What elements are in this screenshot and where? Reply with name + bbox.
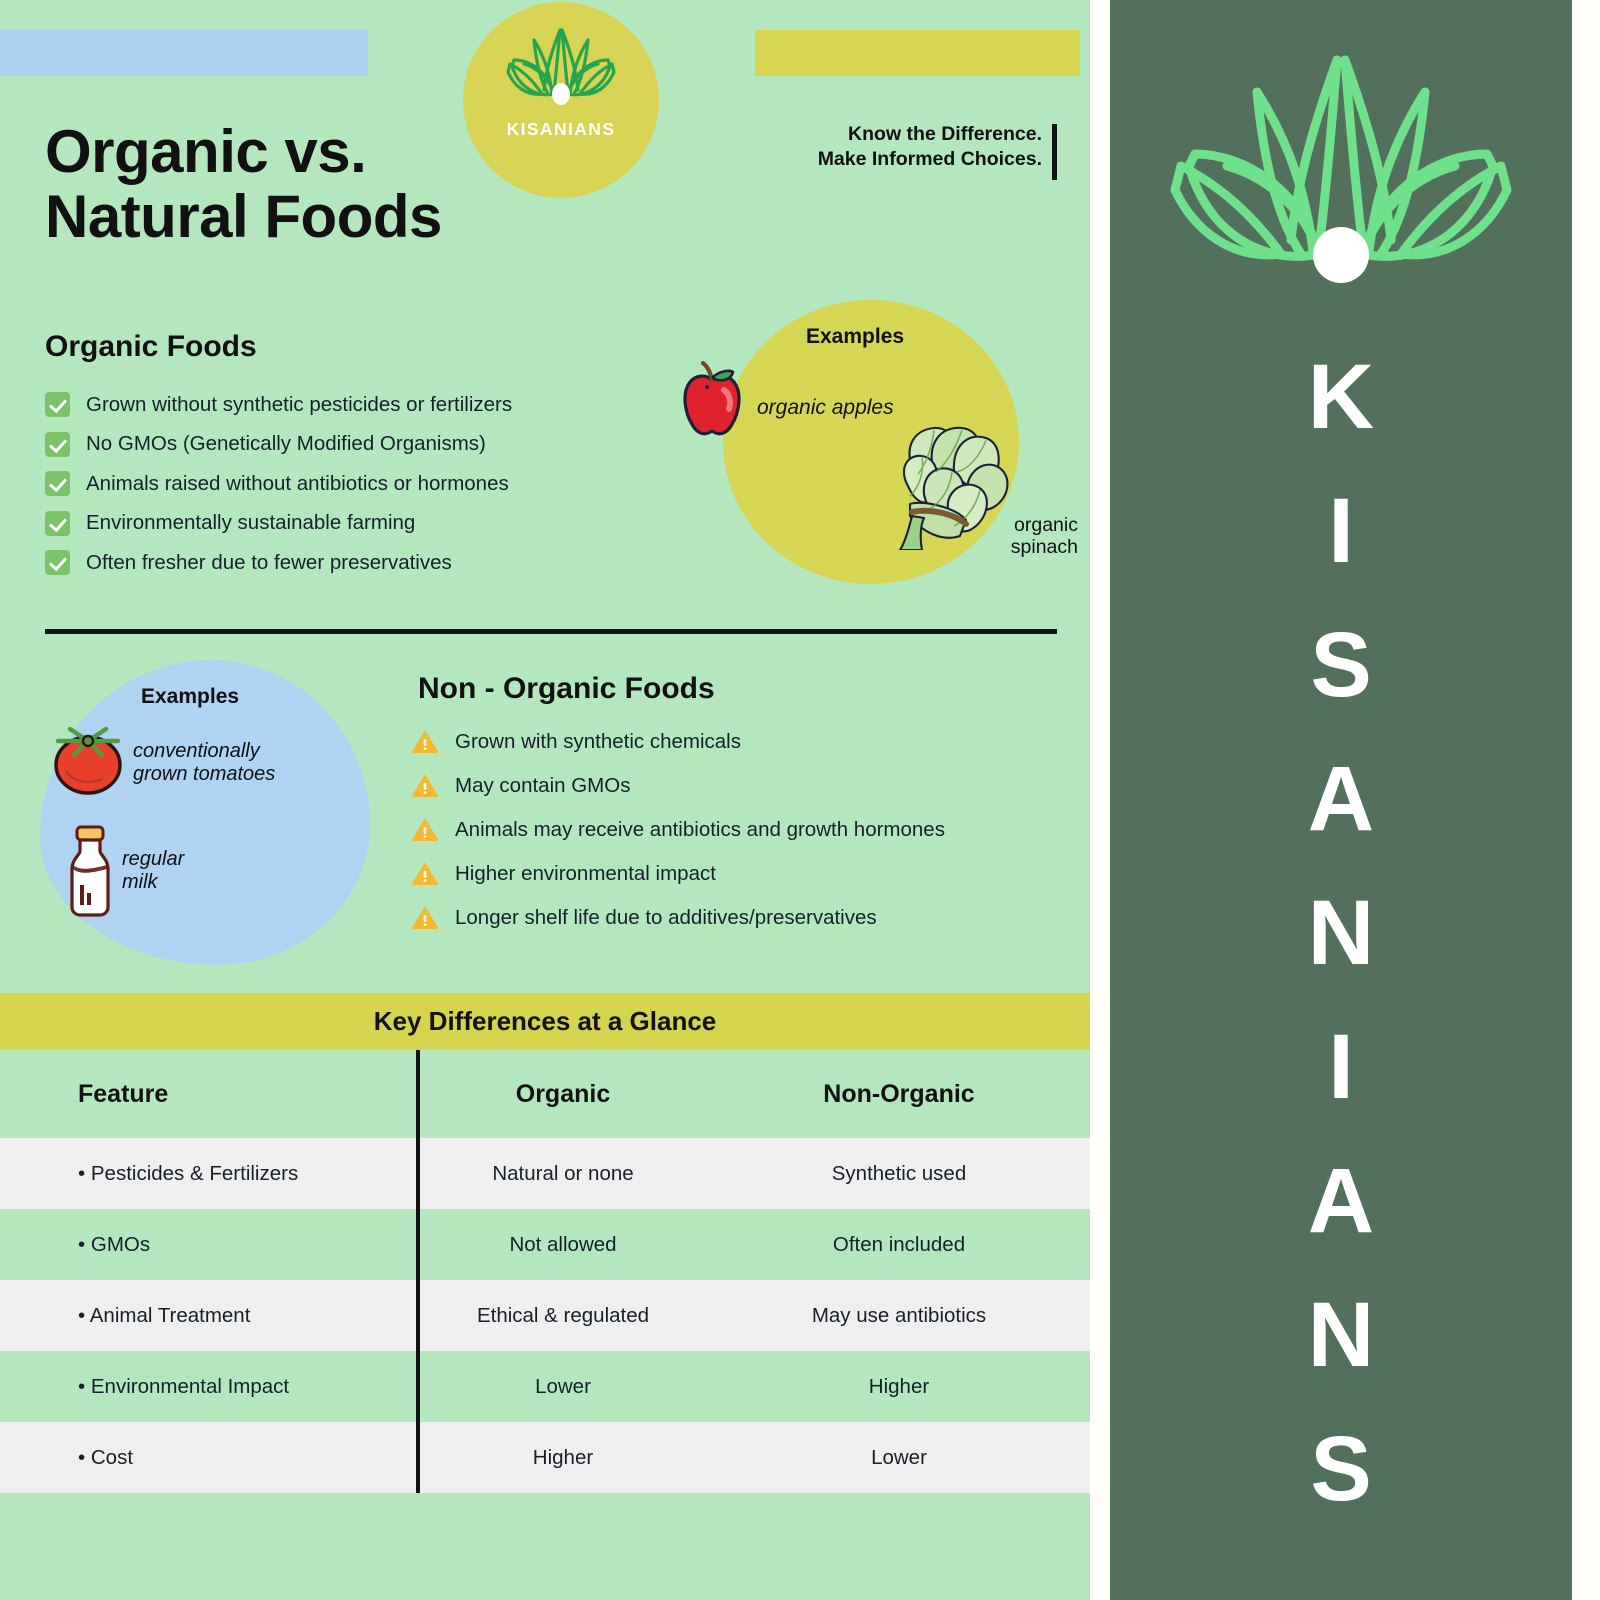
cell-feature: • Pesticides & Fertilizers — [78, 1162, 298, 1185]
tomato-icon — [50, 723, 126, 802]
apple-caption: organic apples — [757, 396, 894, 420]
list-item-label: No GMOs (Genetically Modified Organisms) — [86, 432, 486, 456]
table-row: • GMOs Not allowed Often included — [0, 1209, 1090, 1280]
brand-logo-badge: KISANIANS — [463, 2, 659, 198]
non-organic-section-heading: Non - Organic Foods — [418, 672, 715, 706]
list-item: Animals raised without antibiotics or ho… — [45, 471, 665, 496]
milk-caption: regular milk — [122, 848, 184, 894]
cell-non-organic: Synthetic used — [832, 1162, 966, 1185]
list-item: Animals may receive antibiotics and grow… — [412, 818, 1052, 842]
logo-wordmark: KISANIANS — [507, 119, 616, 140]
lotus-leaf-icon — [1141, 42, 1541, 317]
list-item: Environmentally sustainable farming — [45, 511, 665, 536]
cell-non-organic: Often included — [833, 1233, 965, 1256]
non-organic-bullet-list: Grown with synthetic chemicals May conta… — [412, 730, 1052, 950]
list-item: Often fresher due to fewer preservatives — [45, 550, 665, 575]
main-content-panel: Organic vs. Natural Foods — [0, 0, 1090, 1600]
check-icon — [45, 471, 70, 496]
tagline: Know the Difference. Make Informed Choic… — [770, 122, 1042, 172]
cell-organic: Ethical & regulated — [477, 1304, 649, 1327]
cell-feature: • Cost — [78, 1446, 133, 1469]
table-vertical-divider — [416, 1209, 420, 1280]
brand-letter: K — [1308, 330, 1374, 464]
table-vertical-divider — [416, 1351, 420, 1422]
list-item-label: Grown with synthetic chemicals — [455, 730, 741, 754]
cell-feature: • Animal Treatment — [78, 1304, 250, 1327]
accent-bar-blue — [0, 30, 368, 76]
check-icon — [45, 392, 70, 417]
list-item: No GMOs (Genetically Modified Organisms) — [45, 432, 665, 457]
column-header-non-organic: Non-Organic — [823, 1080, 974, 1108]
cell-non-organic: Higher — [869, 1375, 929, 1398]
section-divider — [45, 629, 1057, 634]
table-vertical-divider — [416, 1422, 420, 1493]
table-vertical-divider — [416, 1050, 420, 1138]
brand-letter: S — [1310, 1402, 1371, 1536]
warning-triangle-icon — [412, 774, 438, 798]
brand-letter: I — [1328, 464, 1354, 598]
list-item-label: Longer shelf life due to additives/prese… — [455, 906, 877, 930]
list-item: Grown with synthetic chemicals — [412, 730, 1052, 754]
lotus-leaf-icon — [496, 2, 626, 117]
non-organic-examples-label: Examples — [141, 685, 239, 709]
check-icon — [45, 550, 70, 575]
warning-triangle-icon — [412, 818, 438, 842]
brand-letter: N — [1308, 1268, 1374, 1402]
table-row: • Animal Treatment Ethical & regulated M… — [0, 1280, 1090, 1351]
cell-organic: Not allowed — [509, 1233, 616, 1256]
brand-letter: A — [1308, 1134, 1374, 1268]
cell-non-organic: Lower — [871, 1446, 927, 1469]
cell-organic: Higher — [533, 1446, 593, 1469]
spinach-caption: organic spinach — [968, 514, 1078, 559]
check-icon — [45, 432, 70, 457]
accent-bar-yellow — [755, 30, 1080, 76]
list-item-label: Grown without synthetic pesticides or fe… — [86, 393, 512, 417]
organic-examples-label: Examples — [806, 325, 904, 349]
warning-triangle-icon — [412, 730, 438, 754]
list-item: Higher environmental impact — [412, 862, 1052, 886]
apple-icon — [676, 360, 748, 445]
brand-letter: A — [1308, 732, 1374, 866]
tomato-caption: conventionally grown tomatoes — [133, 740, 343, 786]
table-row: • Environmental Impact Lower Higher — [0, 1351, 1090, 1422]
table-footer-space — [0, 1493, 1090, 1573]
column-header-feature: Feature — [78, 1080, 168, 1108]
list-item-label: May contain GMOs — [455, 774, 630, 798]
table-banner: Key Differences at a Glance — [0, 993, 1090, 1050]
list-item-label: Higher environmental impact — [455, 862, 716, 886]
list-item: Longer shelf life due to additives/prese… — [412, 906, 1052, 930]
warning-triangle-icon — [412, 906, 438, 930]
table-banner-label: Key Differences at a Glance — [374, 1006, 717, 1037]
comparison-table: Key Differences at a Glance Feature Orga… — [0, 993, 1090, 1573]
list-item-label: Animals raised without antibiotics or ho… — [86, 472, 509, 496]
cell-organic: Natural or none — [492, 1162, 633, 1185]
brand-letter: S — [1310, 598, 1371, 732]
warning-triangle-icon — [412, 862, 438, 886]
brand-vertical-wordmark: K I S A N I A N S — [1110, 330, 1572, 1536]
organic-bullet-list: Grown without synthetic pesticides or fe… — [45, 392, 665, 590]
organic-section-heading: Organic Foods — [45, 330, 257, 364]
list-item-label: Animals may receive antibiotics and grow… — [455, 818, 945, 842]
cell-organic: Lower — [535, 1375, 591, 1398]
list-item-label: Environmentally sustainable farming — [86, 511, 415, 535]
tagline-line-2: Make Informed Choices. — [770, 147, 1042, 172]
cell-feature: • GMOs — [78, 1233, 150, 1256]
table-row: • Cost Higher Lower — [0, 1422, 1090, 1493]
brand-letter: I — [1328, 1000, 1354, 1134]
column-header-organic: Organic — [516, 1080, 610, 1108]
brand-letter: N — [1308, 866, 1374, 1000]
table-vertical-divider — [416, 1280, 420, 1351]
infographic-root: Organic vs. Natural Foods — [0, 0, 1600, 1600]
table-row: • Pesticides & Fertilizers Natural or no… — [0, 1138, 1090, 1209]
list-item: May contain GMOs — [412, 774, 1052, 798]
table-header-row: Feature Organic Non-Organic — [0, 1050, 1090, 1138]
brand-sidebar: K I S A N I A N S — [1110, 0, 1572, 1600]
table-vertical-divider — [416, 1138, 420, 1209]
milk-bottle-icon — [62, 823, 118, 924]
tagline-line-1: Know the Difference. — [770, 122, 1042, 147]
cell-feature: • Environmental Impact — [78, 1375, 289, 1398]
list-item-label: Often fresher due to fewer preservatives — [86, 551, 452, 575]
tagline-accent-bar — [1052, 124, 1057, 180]
check-icon — [45, 511, 70, 536]
list-item: Grown without synthetic pesticides or fe… — [45, 392, 665, 417]
cell-non-organic: May use antibiotics — [812, 1304, 986, 1327]
